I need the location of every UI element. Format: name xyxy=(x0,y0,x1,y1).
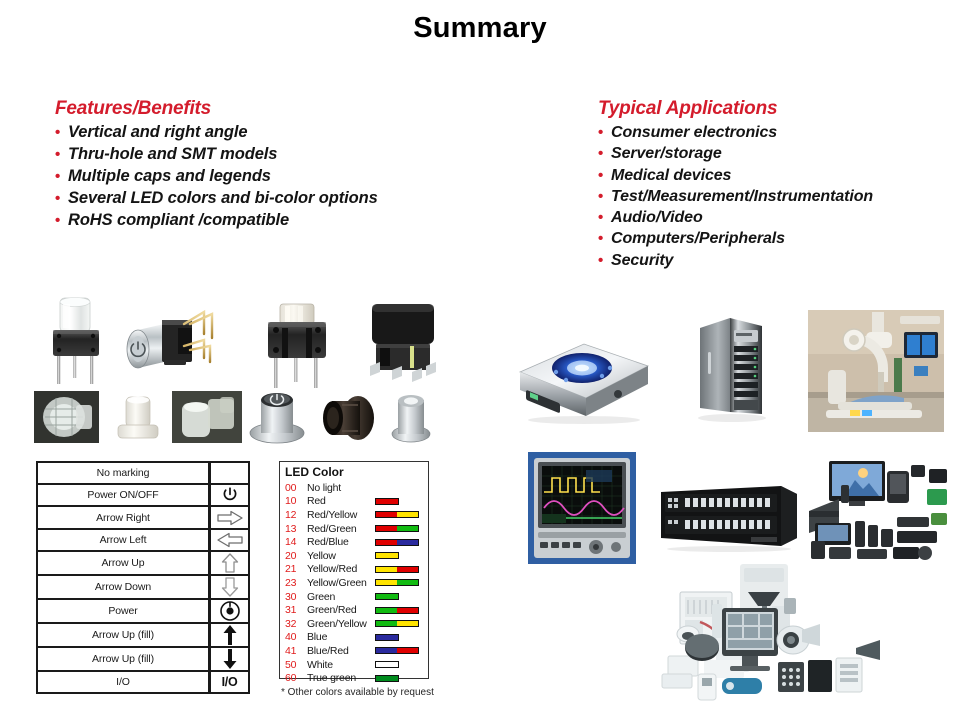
led-swatch-wrapper xyxy=(375,607,424,614)
power-standby-icon xyxy=(210,485,248,505)
features-item-label: Several LED colors and bi-color options xyxy=(68,188,378,210)
arrow-down-filled-icon xyxy=(210,648,248,670)
io-text-icon: I/O xyxy=(210,672,248,692)
io-label: I/O xyxy=(222,675,238,689)
led-code: 31 xyxy=(285,604,307,616)
led-code: 10 xyxy=(285,495,307,507)
led-color-name: White xyxy=(307,659,375,671)
led-color-row: 50White xyxy=(285,658,424,672)
led-color-name: Yellow/Red xyxy=(307,563,375,575)
led-code: 14 xyxy=(285,536,307,548)
bullet-dot-icon: • xyxy=(55,147,68,162)
applications-item-label: Test/Measurement/Instrumentation xyxy=(611,186,873,207)
led-table-title: LED Color xyxy=(285,465,424,480)
product-photo-clear-ribbed-cap xyxy=(34,391,99,443)
led-color-row: 12Red/Yellow xyxy=(285,508,424,522)
led-code: 40 xyxy=(285,631,307,643)
led-color-swatch xyxy=(375,647,419,654)
led-swatch-wrapper xyxy=(375,579,424,586)
marking-label: Power xyxy=(38,600,210,622)
led-code: 12 xyxy=(285,509,307,521)
led-color-row: 13Red/Green xyxy=(285,522,424,536)
arrow-down-outline-icon xyxy=(210,576,248,598)
features-item-label: Thru-hole and SMT models xyxy=(68,144,277,166)
product-photo-black-smt-tactile-switch xyxy=(362,300,444,388)
product-photo-black-round-cap xyxy=(318,393,380,443)
led-swatch-wrapper xyxy=(375,647,424,654)
product-photo-right-angle-power-symbol-switch xyxy=(118,300,220,382)
bullet-dot-icon: • xyxy=(55,213,68,228)
arrow-right-outline-icon xyxy=(210,507,248,527)
marking-label: No marking xyxy=(38,463,210,483)
features-item: •RoHS compliant /compatible xyxy=(55,210,378,232)
bullet-dot-icon: • xyxy=(598,146,611,161)
led-color-row: 10Red xyxy=(285,495,424,509)
led-color-row: 21Yellow/Red xyxy=(285,563,424,577)
app-photo-av-rack-matrix-switch xyxy=(655,480,803,552)
led-color-swatch xyxy=(375,566,419,573)
led-swatch-wrapper xyxy=(375,675,424,682)
led-code: 13 xyxy=(285,523,307,535)
led-table-note: * Other colors available by request xyxy=(281,687,434,698)
applications-item: •Server/storage xyxy=(598,143,873,164)
applications-item-label: Medical devices xyxy=(611,165,731,186)
led-color-name: Green/Red xyxy=(307,604,375,616)
led-color-name: Green/Yellow xyxy=(307,618,375,630)
led-color-swatch xyxy=(375,661,399,668)
features-item-label: RoHS compliant /compatible xyxy=(68,210,289,232)
marking-table-row: Arrow Up (fill) xyxy=(38,648,248,672)
applications-item: •Test/Measurement/Instrumentation xyxy=(598,186,873,207)
led-code: 21 xyxy=(285,563,307,575)
led-color-swatch xyxy=(375,579,419,586)
led-swatch-wrapper xyxy=(375,566,424,573)
bullet-dot-icon: • xyxy=(598,231,611,246)
applications-item: •Medical devices xyxy=(598,165,873,186)
led-swatch-wrapper xyxy=(375,498,424,505)
led-color-swatch xyxy=(375,634,399,641)
marking-icon-empty xyxy=(210,463,248,483)
features-item: •Vertical and right angle xyxy=(55,122,378,144)
features-item-label: Multiple caps and legends xyxy=(68,166,271,188)
led-color-name: Yellow/Green xyxy=(307,577,375,589)
led-color-row: 31Green/Red xyxy=(285,603,424,617)
led-swatch-wrapper xyxy=(375,511,424,518)
applications-item-label: Audio/Video xyxy=(611,207,703,228)
led-swatch-wrapper xyxy=(375,525,424,532)
led-color-swatch xyxy=(375,498,399,505)
features-item: •Several LED colors and bi-color options xyxy=(55,188,378,210)
features-item: •Multiple caps and legends xyxy=(55,166,378,188)
marking-table-row: Power ON/OFF xyxy=(38,485,248,507)
led-color-row: 00No light xyxy=(285,481,424,495)
bullet-dot-icon: • xyxy=(598,189,611,204)
led-color-row: 41Blue/Red xyxy=(285,644,424,658)
bullet-dot-icon: • xyxy=(55,169,68,184)
marking-label: Arrow Up xyxy=(38,552,210,574)
led-code: 41 xyxy=(285,645,307,657)
bullet-dot-icon: • xyxy=(598,125,611,140)
led-color-swatch xyxy=(375,620,419,627)
led-color-name: Red xyxy=(307,495,375,507)
led-color-name: Red/Green xyxy=(307,523,375,535)
applications-item-label: Consumer electronics xyxy=(611,122,777,143)
applications-item: •Audio/Video xyxy=(598,207,873,228)
led-color-row: 23Yellow/Green xyxy=(285,576,424,590)
marking-table-row: Arrow Right xyxy=(38,507,248,529)
app-photo-server-tower xyxy=(690,312,770,424)
led-color-name: Red/Yellow xyxy=(307,509,375,521)
marking-table-row: Arrow Left xyxy=(38,530,248,552)
applications-item-label: Security xyxy=(611,250,673,271)
features-item: •Thru-hole and SMT models xyxy=(55,144,378,166)
marking-legend-table: No markingPower ON/OFFArrow RightArrow L… xyxy=(36,461,250,694)
led-color-swatch xyxy=(375,607,419,614)
led-color-swatch xyxy=(375,593,399,600)
applications-heading: Typical Applications xyxy=(598,98,873,120)
led-color-row: 40Blue xyxy=(285,631,424,645)
led-color-name: True green xyxy=(307,672,375,684)
applications-item: •Security xyxy=(598,250,873,271)
led-swatch-wrapper xyxy=(375,634,424,641)
product-photo-white-round-cap xyxy=(112,393,164,443)
led-code: 32 xyxy=(285,618,307,630)
led-color-name: Green xyxy=(307,591,375,603)
page-title: Summary xyxy=(0,12,960,45)
marking-label: Arrow Left xyxy=(38,530,210,550)
app-photo-medical-imaging-suite xyxy=(808,310,944,432)
led-color-name: No light xyxy=(307,482,375,494)
applications-list: •Consumer electronics•Server/storage•Med… xyxy=(598,122,873,271)
marking-table-row: I/OI/O xyxy=(38,672,248,692)
led-code: 50 xyxy=(285,659,307,671)
led-color-row: 60True green xyxy=(285,671,424,685)
product-photo-white-cap-thru-hole-switch xyxy=(258,302,334,392)
marking-label: Power ON/OFF xyxy=(38,485,210,505)
led-color-swatch xyxy=(375,525,419,532)
slide-canvas: Summary Features/Benefits •Vertical and … xyxy=(0,0,960,720)
marking-label: Arrow Up (fill) xyxy=(38,648,210,670)
app-photo-oscilloscope xyxy=(528,452,636,564)
led-code: 23 xyxy=(285,577,307,589)
led-code: 30 xyxy=(285,591,307,603)
bullet-dot-icon: • xyxy=(55,125,68,140)
marking-table-row: Arrow Up (fill) xyxy=(38,624,248,648)
led-color-swatch xyxy=(375,552,399,559)
led-swatch-wrapper xyxy=(375,552,424,559)
led-color-row: 32Green/Yellow xyxy=(285,617,424,631)
led-color-name: Yellow xyxy=(307,550,375,562)
product-photo-silver-oval-cap xyxy=(388,390,434,444)
led-color-swatch xyxy=(375,511,419,518)
marking-label: I/O xyxy=(38,672,210,692)
app-photo-consumer-electronics-collage xyxy=(805,455,953,565)
applications-item-label: Server/storage xyxy=(611,143,722,164)
marking-label: Arrow Down xyxy=(38,576,210,598)
product-photo-silver-power-symbol-cap xyxy=(246,389,308,445)
features-heading: Features/Benefits xyxy=(55,98,378,120)
applications-item: •Computers/Peripherals xyxy=(598,228,873,249)
led-swatch-wrapper xyxy=(375,593,424,600)
product-photo-frosted-square-cap xyxy=(172,391,242,443)
led-color-swatch xyxy=(375,675,399,682)
bullet-dot-icon: • xyxy=(598,253,611,268)
led-swatch-wrapper xyxy=(375,661,424,668)
power-dot-icon xyxy=(210,600,248,622)
led-color-name: Blue xyxy=(307,631,375,643)
marking-table-row: No marking xyxy=(38,463,248,485)
led-color-table: LED Color 00No light10Red12Red/Yellow13R… xyxy=(279,461,429,679)
bullet-dot-icon: • xyxy=(598,168,611,183)
applications-item: •Consumer electronics xyxy=(598,122,873,143)
marking-table-row: Arrow Up xyxy=(38,552,248,576)
marking-label: Arrow Up (fill) xyxy=(38,624,210,646)
arrow-left-outline-icon xyxy=(210,530,248,550)
led-color-row: 30Green xyxy=(285,590,424,604)
arrow-up-outline-icon xyxy=(210,552,248,574)
marking-table-row: Power xyxy=(38,600,248,624)
app-photo-consumer-media-player xyxy=(512,332,652,424)
typical-applications-block: Typical Applications •Consumer electroni… xyxy=(598,98,873,271)
features-item-label: Vertical and right angle xyxy=(68,122,247,144)
led-color-swatch xyxy=(375,539,419,546)
features-list: •Vertical and right angle•Thru-hole and … xyxy=(55,122,378,232)
features-benefits-block: Features/Benefits •Vertical and right an… xyxy=(55,98,378,232)
product-photo-clear-cap-tactile-switch xyxy=(40,296,112,388)
arrow-up-filled-icon xyxy=(210,624,248,646)
bullet-dot-icon: • xyxy=(55,191,68,206)
marking-label: Arrow Right xyxy=(38,507,210,527)
bullet-dot-icon: • xyxy=(598,210,611,225)
led-color-name: Red/Blue xyxy=(307,536,375,548)
led-color-row: 20Yellow xyxy=(285,549,424,563)
led-code: 00 xyxy=(285,482,307,494)
led-color-name: Blue/Red xyxy=(307,645,375,657)
app-photo-security-systems-collage xyxy=(660,562,922,702)
led-swatch-wrapper xyxy=(375,539,424,546)
led-color-row: 14Red/Blue xyxy=(285,535,424,549)
marking-table-row: Arrow Down xyxy=(38,576,248,600)
led-code: 20 xyxy=(285,550,307,562)
applications-item-label: Computers/Peripherals xyxy=(611,228,785,249)
led-code: 60 xyxy=(285,672,307,684)
led-swatch-wrapper xyxy=(375,620,424,627)
